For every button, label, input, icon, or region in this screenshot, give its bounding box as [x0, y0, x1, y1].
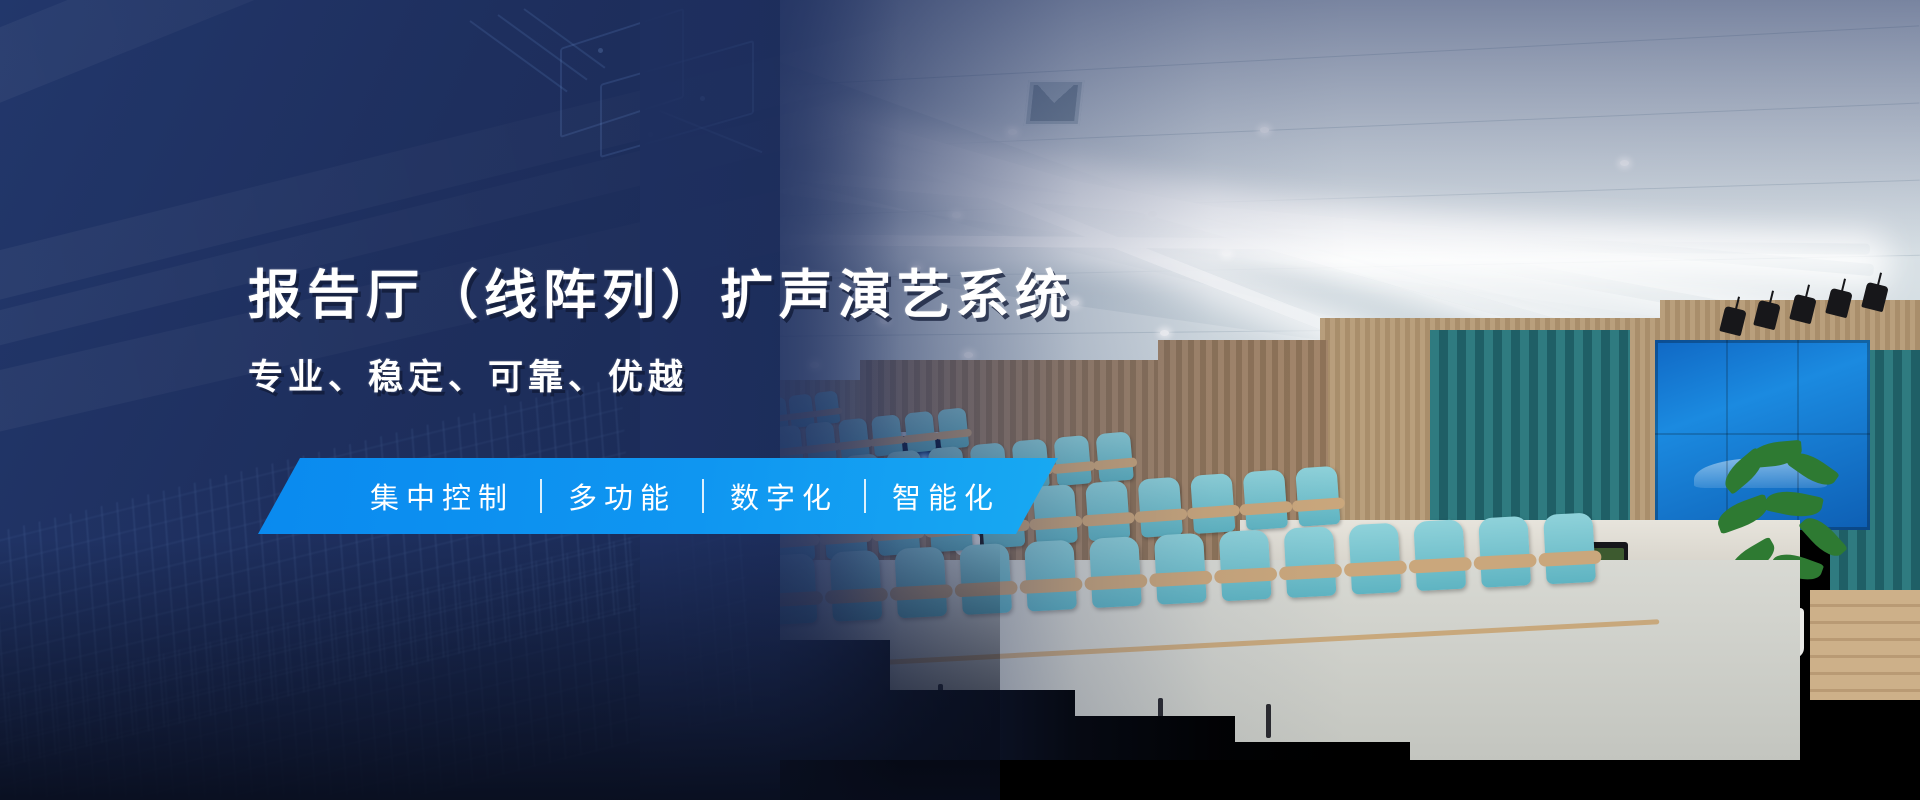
feature-list: 集中控制 多功能 数字化 智能化	[258, 475, 1026, 517]
hero-banner: 报告厅（线阵列）扩声演艺系统 专业、稳定、可靠、优越 集中控制 多功能 数字化 …	[0, 0, 1920, 800]
page-title: 报告厅（线阵列）扩声演艺系统	[248, 266, 1148, 325]
feature-item-4[interactable]: 智能化	[866, 475, 1026, 517]
feature-banner: 集中控制 多功能 数字化 智能化	[258, 458, 1058, 534]
feature-item-2[interactable]: 多功能	[542, 475, 702, 517]
circuit-node	[598, 48, 603, 53]
hero-copy: 报告厅（线阵列）扩声演艺系统 专业、稳定、可靠、优越	[248, 266, 1148, 400]
feature-item-1[interactable]: 集中控制	[344, 475, 540, 517]
bottom-vignette	[0, 540, 1000, 800]
feature-item-3[interactable]: 数字化	[704, 475, 864, 517]
page-subtitle: 专业、稳定、可靠、优越	[248, 349, 1148, 400]
